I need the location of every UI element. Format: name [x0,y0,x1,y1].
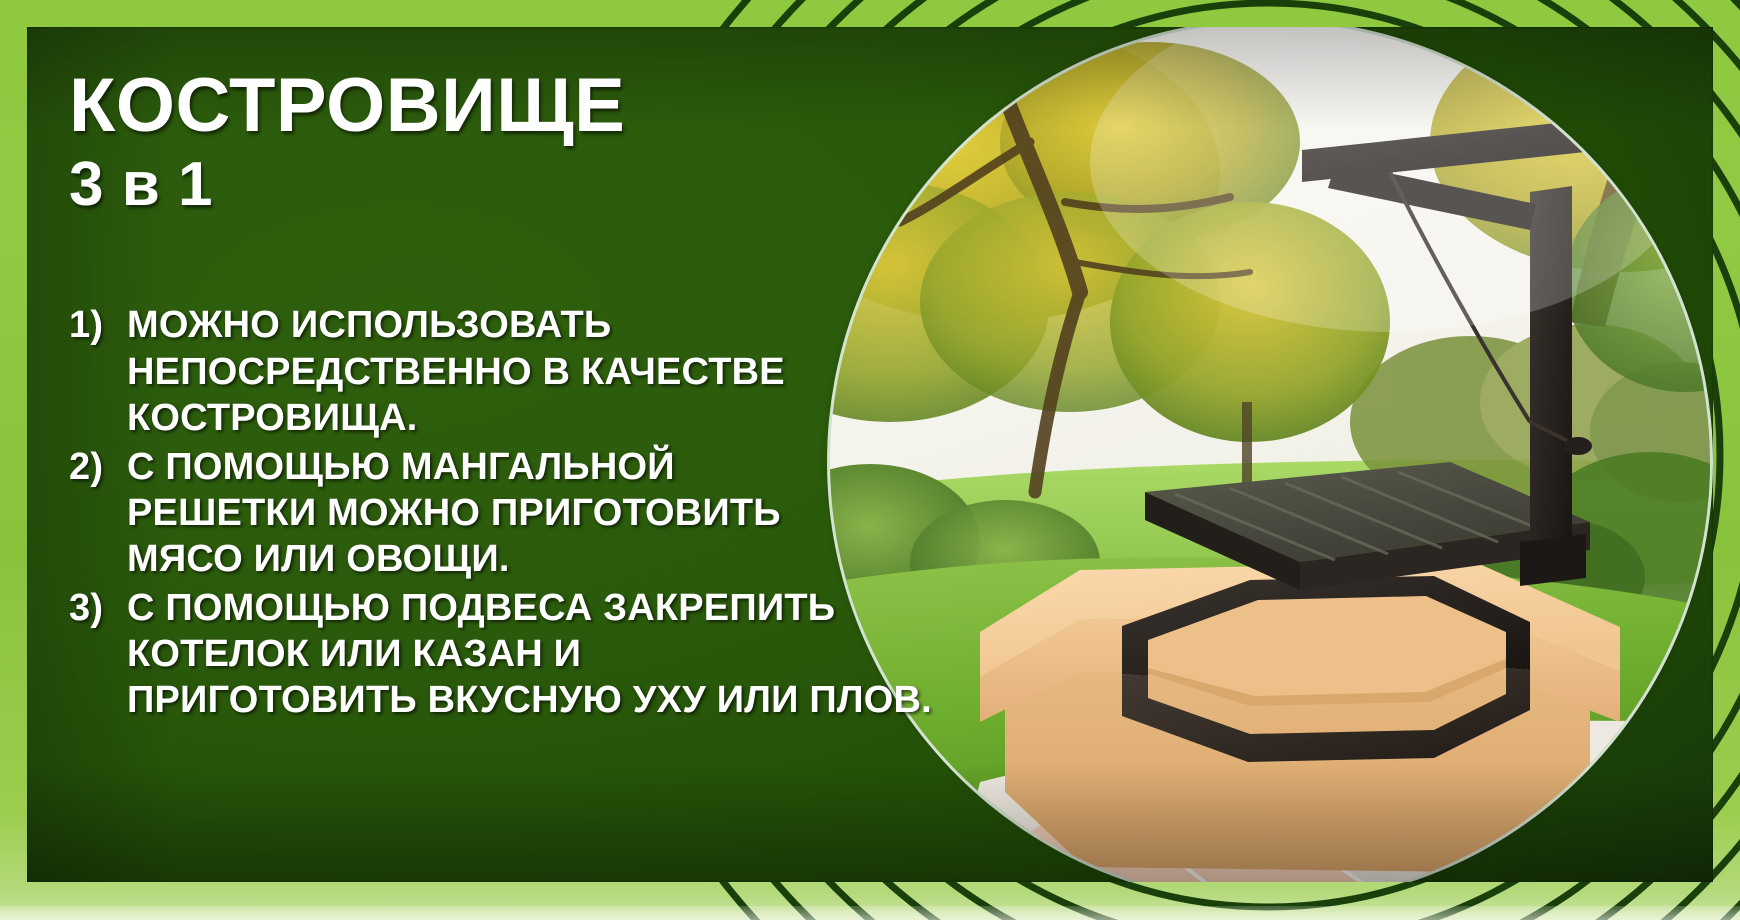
list-item-text: С ПОМОЩЬЮ ПОДВЕСА ЗАКРЕПИТЬ КОТЕЛОК ИЛИ … [127,585,969,724]
page-title: КОСТРОВИЩЕ [69,69,969,143]
text-content-block: КОСТРОВИЩЕ 3 в 1 1) МОЖНО ИСПОЛЬЗОВАТЬ Н… [69,47,969,726]
list-item: 3) С ПОМОЩЬЮ ПОДВЕСА ЗАКРЕПИТЬ КОТЕЛОК И… [69,585,969,724]
list-item-marker: 3) [69,585,127,631]
page-subtitle: 3 в 1 [69,149,969,220]
feature-list: 1) МОЖНО ИСПОЛЬЗОВАТЬ НЕПОСРЕДСТВЕННО В … [69,302,969,723]
dark-green-content-panel: КОСТРОВИЩЕ 3 в 1 1) МОЖНО ИСПОЛЬЗОВАТЬ Н… [27,27,1713,882]
list-item-text: МОЖНО ИСПОЛЬЗОВАТЬ НЕПОСРЕДСТВЕННО В КАЧ… [127,302,969,441]
list-item: 1) МОЖНО ИСПОЛЬЗОВАТЬ НЕПОСРЕДСТВЕННО В … [69,302,969,441]
list-item: 2) С ПОМОЩЬЮ МАНГАЛЬНОЙ РЕШЕТКИ МОЖНО ПР… [69,444,969,583]
list-item-marker: 1) [69,302,127,348]
list-item-text: С ПОМОЩЬЮ МАНГАЛЬНОЙ РЕШЕТКИ МОЖНО ПРИГО… [127,444,969,583]
poster-root: КОСТРОВИЩЕ 3 в 1 1) МОЖНО ИСПОЛЬЗОВАТЬ Н… [0,0,1740,920]
list-item-marker: 2) [69,444,127,490]
